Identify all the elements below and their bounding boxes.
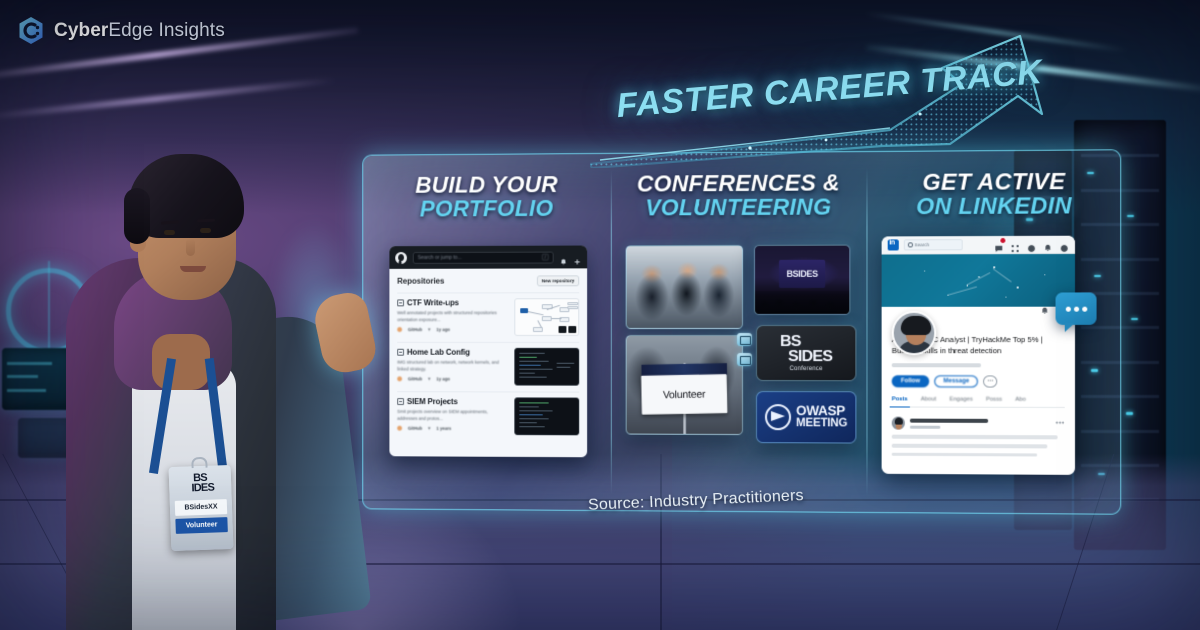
volunteer-sign-photo: Volunteer [626,335,743,435]
badge-print-icon [737,353,752,366]
profile-tabs: Posts About Engages Posss Abo [892,397,1065,409]
owasp-meeting-card[interactable]: OWASP MEETING [756,391,856,443]
bell-icon[interactable] [560,253,568,261]
fork-icon: ⑂ [428,377,431,382]
bsides-stage-logo-text: BSIDES [786,269,817,279]
networking-crowd-photo [626,245,743,329]
repo-name: Home Lab Config [407,348,470,357]
repository-icon [397,349,404,356]
notification-badge [999,237,1006,244]
more-options-button[interactable]: ··· [983,375,997,387]
badge-logo-part-b: IDES [179,482,226,494]
github-body: Repositories New repository CTF Write-up… [389,268,587,441]
bsides-conference-card[interactable]: BS SIDES Conference [756,325,856,381]
repo-age: 1 years [436,426,451,431]
column-2-title-line1: CONFERENCES & [611,170,867,196]
holographic-panel: BUILD YOUR PORTFOLIO Search or jump to..… [362,149,1121,515]
hexagon-c-logo-icon [18,16,44,45]
linkedin-search-placeholder: Search [914,242,929,247]
column-3-title-line1: GET ACTIVE [866,169,1122,195]
brand-logo[interactable]: CyberEdge Insights [18,16,225,45]
post-avatar [892,417,905,430]
chat-bubble-icon[interactable] [1056,292,1097,324]
repository-icon [397,299,404,306]
bell-icon[interactable] [1040,303,1049,312]
badge-scan-icon [737,333,752,346]
language-dot-icon [397,426,402,431]
repo-description: IMG structured lab on network, network k… [397,360,508,374]
messages-icon[interactable] [994,240,1003,249]
badge-name-line: BSidesXX [175,499,227,516]
poster-canvas: CyberEdge Insights FASTER CAREER TRACK [0,0,1200,630]
repo-list-item[interactable]: SIEM Projects Smit projects overview on … [397,391,579,441]
repo-description: Well annotated projects with structured … [397,310,508,324]
column-1-title-line1: BUILD YOUR [363,172,611,198]
github-search-shortcut: / [542,254,549,261]
tab-abo[interactable]: Abo [1015,397,1026,403]
column-1-heading: BUILD YOUR PORTFOLIO [363,154,611,222]
repo-badge: GitHub [408,426,422,431]
column-1-title-line2: PORTFOLIO [363,196,611,221]
post-author-placeholder [910,419,1051,429]
plus-chevron-icon[interactable] [573,253,581,261]
column-3-title-line2: ON LINKEDIN [866,193,1122,219]
search-icon [908,243,913,248]
volunteer-sign-text: Volunteer [663,388,706,401]
column-2-title-line2: VOLUNTEERING [611,195,867,221]
bsides-logo-part-b: SIDES [788,349,832,364]
github-window[interactable]: Search or jump to... / Repositories New … [389,246,587,458]
github-header: Search or jump to... / [389,246,587,269]
grid-apps-icon[interactable] [1011,240,1020,249]
brand-name-bold: Cyber [54,20,108,41]
repository-icon [397,398,404,405]
profile-icon[interactable] [1060,240,1069,249]
attendee-illustration: BS IDES BSidesXX Volunteer [60,62,380,630]
new-repository-button[interactable]: New repository [537,275,580,286]
language-dot-icon [397,327,402,332]
repo-badge: GitHub [408,377,422,382]
repo-name: CTF Write-ups [407,298,459,307]
github-search-input[interactable]: Search or jump to... / [413,251,554,263]
column-conferences: CONFERENCES & VOLUNTEERING BSIDES Volunt… [611,152,867,512]
column-linkedin: GET ACTIVE ON LINKEDIN Search [866,150,1122,514]
avatar[interactable] [892,311,937,355]
tab-posts[interactable]: Posts [892,397,908,403]
terminal-thumbnail [514,397,579,435]
repo-name: SIEM Projects [407,397,458,406]
linkedin-window[interactable]: Search [882,236,1075,475]
repositories-heading: Repositories [397,277,444,286]
tab-posss[interactable]: Posss [986,397,1002,403]
owasp-arrow-icon [765,404,791,430]
owasp-subtitle: MEETING [796,418,847,430]
tab-about[interactable]: About [921,397,936,403]
github-search-placeholder: Search or jump to... [418,254,462,260]
fork-icon: ⑂ [428,426,431,431]
repo-list-item[interactable]: CTF Write-ups Well annotated projects wi… [397,292,579,342]
bsides-stage-photo: BSIDES [754,245,850,315]
globe-icon[interactable] [1027,240,1036,249]
terminal-thumbnail [514,348,579,386]
linkedin-cover-photo [882,254,1075,307]
profile-actions: Follow Message ··· [892,375,1065,388]
github-mark-icon[interactable] [395,252,407,264]
tab-engages[interactable]: Engages [949,397,972,403]
language-dot-icon [397,377,402,382]
network-diagram-thumbnail [514,298,579,336]
conference-badge: BS IDES BSidesXX Volunteer [169,465,234,551]
repo-list-item[interactable]: Home Lab Config IMG structured lab on ne… [397,342,579,392]
linkedin-search-input[interactable]: Search [904,239,963,250]
brand-name: CyberEdge Insights [54,20,225,42]
brand-name-rest: Edge Insights [108,20,224,41]
feed-post[interactable]: ••• [892,417,1065,457]
repo-badge: GitHub [408,327,422,332]
message-button[interactable]: Message [934,375,978,388]
follow-button[interactable]: Follow [892,375,929,387]
repo-description: Smit projects overview on SIEM appointme… [397,409,508,423]
repo-age: 1y ago [436,377,450,382]
linkedin-header: Search [882,236,1075,255]
fork-icon: ⑂ [428,327,431,332]
bell-icon[interactable] [1043,240,1052,249]
more-dots-icon[interactable]: ••• [1056,420,1065,427]
repo-age: 1y ago [436,327,450,332]
linkedin-logo-icon[interactable] [888,239,899,250]
badge-role-line: Volunteer [175,517,227,534]
profile-subline-placeholder [892,363,982,367]
bsides-card-subtitle: Conference [790,366,823,372]
column-portfolio: BUILD YOUR PORTFOLIO Search or jump to..… [363,154,611,510]
